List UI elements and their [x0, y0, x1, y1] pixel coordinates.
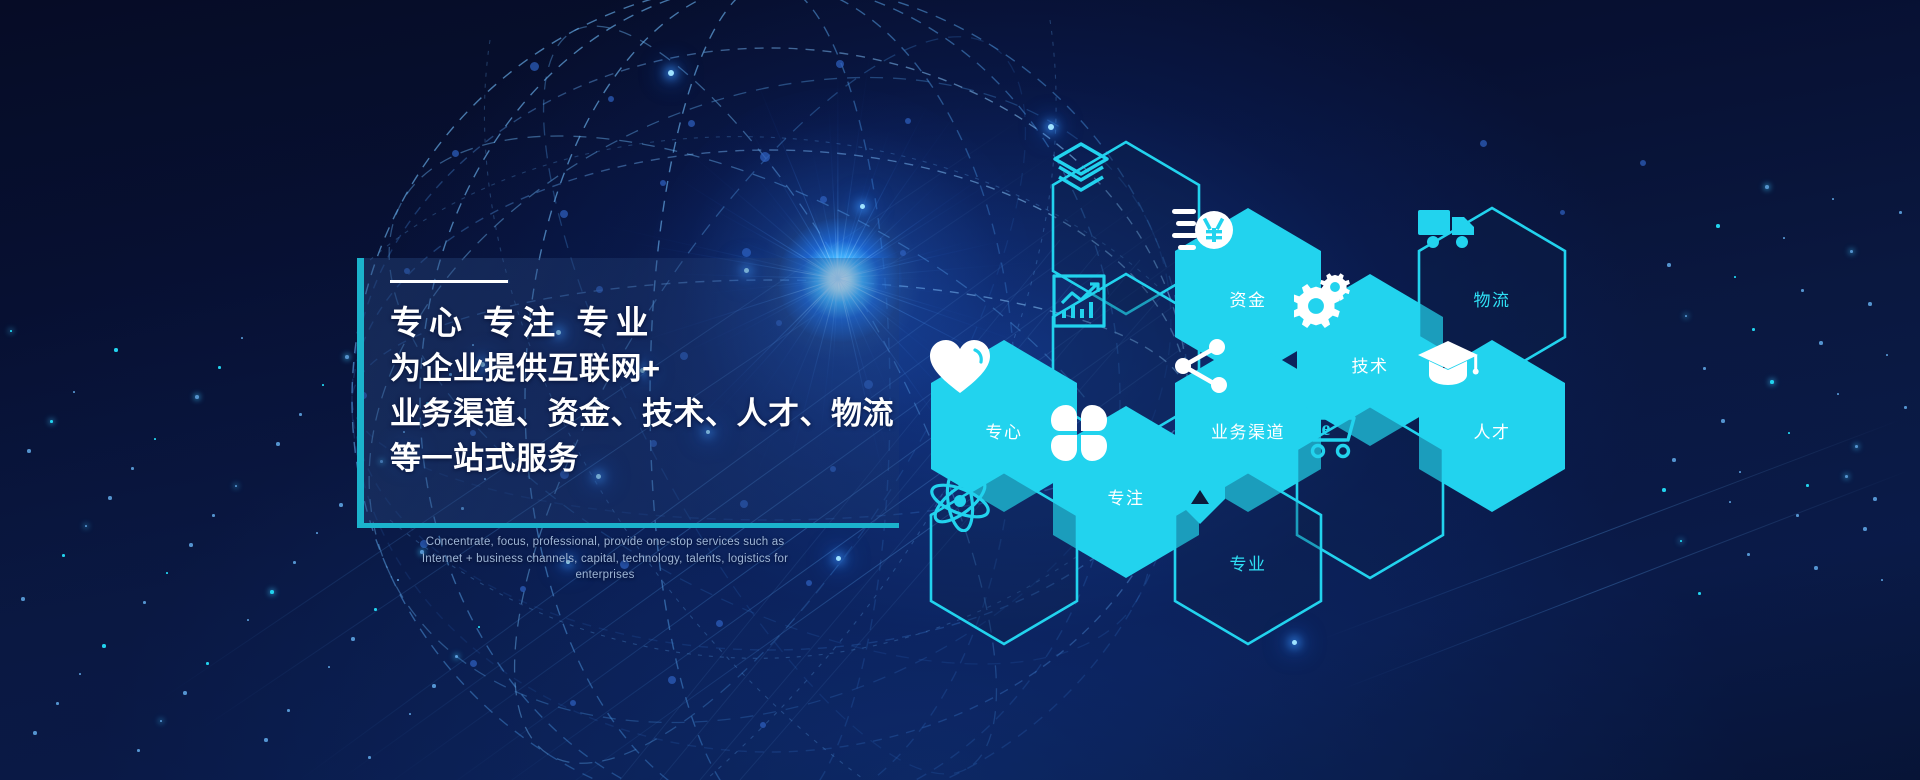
headline-line-4: 等一站式服务	[390, 436, 894, 481]
hexagon-label: 物流	[1474, 286, 1511, 311]
headline-line-2: 为企业提供互联网+	[390, 346, 894, 391]
subtitle-text: Concentrate, focus, professional, provid…	[420, 534, 790, 584]
hexagon-label: 业务渠道	[1211, 418, 1285, 443]
headline-line-3: 业务渠道、资金、技术、人才、物流	[390, 391, 894, 436]
hero-banner: 专心 专注 专业 为企业提供互联网+ 业务渠道、资金、技术、人才、物流 等一站式…	[0, 0, 1920, 780]
svg-text:e: e	[1322, 418, 1331, 440]
headline-panel: 专心 专注 专业 为企业提供互联网+ 业务渠道、资金、技术、人才、物流 等一站式…	[357, 258, 899, 528]
hexagon-label: 资金	[1230, 286, 1267, 311]
hexagon-label: 人才	[1474, 418, 1511, 443]
headline-line-1: 专心 专注 专业	[390, 299, 894, 346]
hexagon-label: 技术	[1352, 352, 1389, 377]
hexagon-label: 专注	[1108, 484, 1145, 509]
hexagon-science[interactable]	[928, 470, 1080, 646]
divider-rule	[390, 280, 508, 283]
hexagon-label: 专业	[1230, 550, 1267, 575]
hexagon-professional[interactable]: 专业	[1172, 470, 1324, 646]
hexagon-label: 专心	[986, 418, 1023, 443]
